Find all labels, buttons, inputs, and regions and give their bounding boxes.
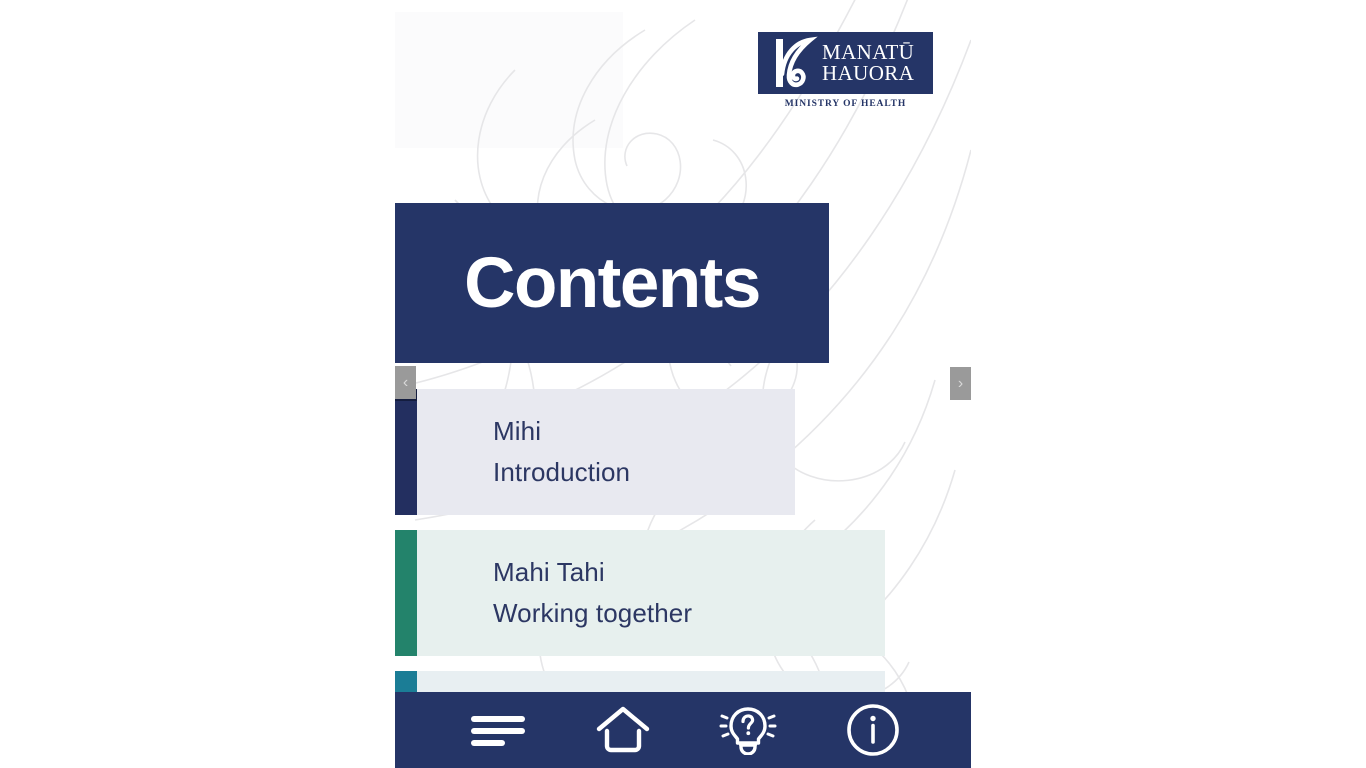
logo-subtitle: MINISTRY OF HEALTH [758, 94, 933, 109]
card-title: Mahi Tahi [493, 552, 885, 593]
logo-line-1: MANATŪ [822, 42, 914, 63]
card-subtitle: Introduction [493, 452, 795, 493]
home-icon[interactable] [560, 692, 685, 768]
card-body: Mahi Tahi Working together [417, 530, 885, 656]
logo-wordmark: MANATŪ HAUORA [820, 42, 914, 83]
slide-viewport: MANATŪ HAUORA MINISTRY OF HEALTH Content… [395, 0, 971, 768]
chevron-left-icon[interactable]: ‹ [395, 366, 416, 399]
bottom-navigation-bar [395, 692, 971, 768]
prev-label: ‹ [403, 375, 408, 391]
card-body: Mihi Introduction [417, 389, 795, 515]
chevron-right-icon[interactable]: › [950, 367, 971, 400]
lightbulb-question-icon[interactable] [685, 692, 810, 768]
card-subtitle: Working together [493, 593, 885, 634]
next-label: › [958, 376, 963, 392]
koru-logo-icon [762, 34, 820, 92]
logo-box: MANATŪ HAUORA [758, 32, 933, 94]
card-accent-bar [395, 530, 417, 656]
slide-stage: MANATŪ HAUORA MINISTRY OF HEALTH Content… [0, 0, 1366, 768]
header-background-panel [395, 12, 623, 148]
card-accent-bar [395, 389, 417, 515]
info-circle-icon[interactable] [810, 692, 935, 768]
list-item[interactable]: Mihi Introduction [395, 389, 795, 515]
card-title: Mihi [493, 411, 795, 452]
page-title-text: Contents [464, 248, 760, 319]
list-item[interactable]: Mahi Tahi Working together [395, 530, 885, 656]
menu-icon[interactable] [435, 692, 560, 768]
ministry-of-health-logo: MANATŪ HAUORA MINISTRY OF HEALTH [758, 32, 933, 109]
logo-line-2: HAUORA [822, 63, 914, 84]
page-title: Contents [395, 203, 829, 363]
